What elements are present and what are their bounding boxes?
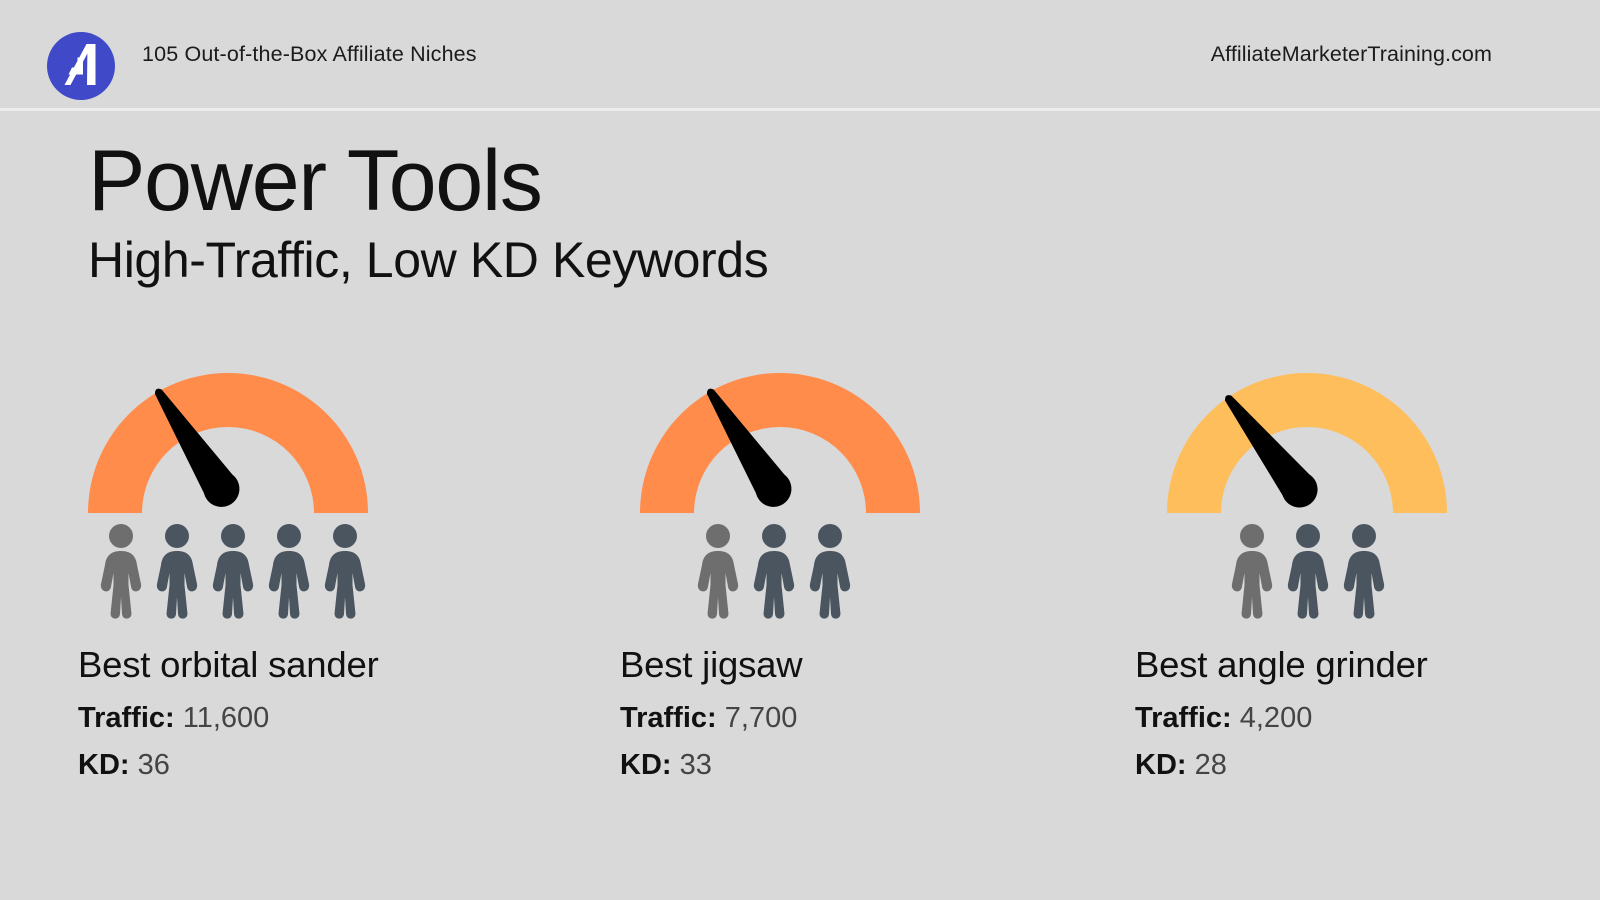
person-head: [706, 524, 730, 548]
person-head: [333, 524, 357, 548]
audience-people-row: [78, 519, 538, 619]
person-body: [213, 551, 253, 619]
person-body: [1288, 551, 1328, 619]
person-head: [109, 524, 133, 548]
traffic-label: Traffic:: [1135, 702, 1232, 734]
person-icon: [266, 523, 312, 619]
person-body: [1232, 551, 1272, 619]
traffic-stat: Traffic: 4,200: [1135, 704, 1595, 733]
header-subtitle-left: 105 Out-of-the-Box Affiliate Niches: [142, 0, 477, 108]
traffic-label: Traffic:: [620, 702, 717, 734]
traffic-value: 7,700: [725, 702, 798, 734]
person-head: [762, 524, 786, 548]
traffic-stat: Traffic: 11,600: [78, 704, 538, 733]
person-icon: [210, 523, 256, 619]
person-body: [698, 551, 738, 619]
header-site-url: AffiliateMarketerTraining.com: [1211, 0, 1492, 108]
affiliate-marketer-logo-icon: [46, 31, 116, 101]
keyword-label: Best angle grinder: [1135, 647, 1595, 684]
audience-people-row: [620, 519, 1080, 619]
gauge-wrap: [78, 355, 378, 525]
person-body: [1344, 551, 1384, 619]
kd-value: 36: [138, 749, 170, 781]
traffic-value: 4,200: [1240, 702, 1313, 734]
keyword-card: Best orbital sander Traffic: 11,600 KD: …: [78, 355, 538, 780]
traffic-label: Traffic:: [78, 702, 175, 734]
person-icon: [98, 523, 144, 619]
kd-value: 28: [1195, 749, 1227, 781]
kd-label: KD:: [78, 749, 130, 781]
person-head: [1296, 524, 1320, 548]
person-body: [269, 551, 309, 619]
page-header: 105 Out-of-the-Box Affiliate Niches Affi…: [0, 0, 1600, 111]
gauge-wrap: [630, 355, 930, 525]
person-body: [157, 551, 197, 619]
person-head: [221, 524, 245, 548]
person-body: [754, 551, 794, 619]
keyword-card: Best angle grinder Traffic: 4,200 KD: 28: [1135, 355, 1595, 780]
gauge-wrap: [1157, 355, 1457, 525]
person-icon: [751, 523, 797, 619]
person-body: [325, 551, 365, 619]
person-head: [818, 524, 842, 548]
audience-people-row: [1135, 519, 1595, 619]
keyword-label: Best orbital sander: [78, 647, 538, 684]
kd-label: KD:: [620, 749, 672, 781]
traffic-stat: Traffic: 7,700: [620, 704, 1080, 733]
page-subtitle: High-Traffic, Low KD Keywords: [88, 232, 768, 288]
person-icon: [1229, 523, 1275, 619]
kd-value: 33: [680, 749, 712, 781]
keyword-label: Best jigsaw: [620, 647, 1080, 684]
traffic-gauge-icon: [630, 355, 930, 525]
person-head: [1240, 524, 1264, 548]
person-head: [277, 524, 301, 548]
person-icon: [1341, 523, 1387, 619]
person-body: [810, 551, 850, 619]
kd-stat: KD: 36: [78, 751, 538, 780]
person-body: [101, 551, 141, 619]
person-icon: [695, 523, 741, 619]
person-head: [165, 524, 189, 548]
kd-label: KD:: [1135, 749, 1187, 781]
traffic-value: 11,600: [183, 702, 270, 734]
person-icon: [154, 523, 200, 619]
person-icon: [1285, 523, 1331, 619]
traffic-gauge-icon: [1157, 355, 1457, 525]
person-icon: [322, 523, 368, 619]
kd-stat: KD: 28: [1135, 751, 1595, 780]
person-head: [1352, 524, 1376, 548]
person-icon: [807, 523, 853, 619]
page-title: Power Tools: [88, 138, 542, 224]
keyword-card: Best jigsaw Traffic: 7,700 KD: 33: [620, 355, 1080, 780]
traffic-gauge-icon: [78, 355, 378, 525]
kd-stat: KD: 33: [620, 751, 1080, 780]
